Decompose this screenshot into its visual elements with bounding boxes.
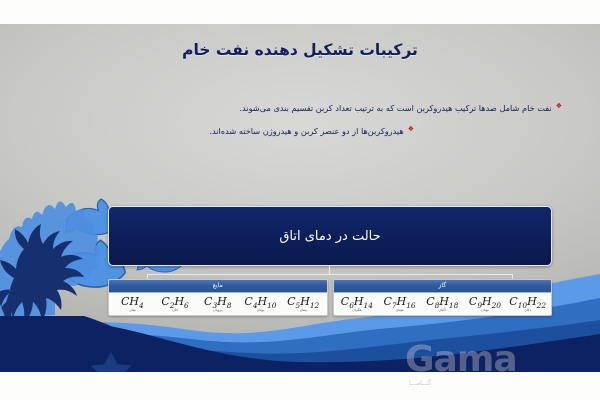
hydrogen-count: 6 [184,302,189,311]
molecule-name: پروپان [213,308,222,312]
molecule-name: بوتان [257,308,265,312]
molecule-list-liquid: C5H12 پنتان C4H10 بوتان C3H8 پروپان C2H6… [109,293,327,315]
main-state-label: حالت در دمای اتاق [279,229,380,244]
hydrogen-count: 10 [267,302,276,311]
hydrogen-count: 4 [139,302,144,311]
molecule-item: C7H16 هپتان [378,296,421,312]
category-header-liquid: مایع [109,280,327,293]
molecule-name: اکتان [438,308,446,312]
list-item: ❖ نفت خام شامل صدها ترکیب هیدروکربن است … [22,102,562,114]
molecule-item: CH4 متان [111,296,154,312]
hydrogen-count: 22 [537,302,546,311]
ocean-decoration [0,24,600,372]
molecule-item: C10H22 دکان [506,296,549,312]
hydrogen-count: 20 [492,302,501,311]
slide-viewer: ترکیبات تشکیل دهنده نفت خام ❖ نفت خام شا… [0,0,600,400]
page-title: ترکیبات تشکیل دهنده نفت خام [0,41,600,59]
molecule-name: متان [129,308,136,312]
molecule-name: نونان [481,308,489,312]
molecule-item: C6H14 هگزان [335,296,378,312]
molecule-list-gas: C10H22 دکان C9H20 نونان C8H18 اکتان C7H1… [334,293,552,315]
watermark-subtext: گـــامـــا [409,379,431,387]
main-state-box: حالت در دمای اتاق [108,206,552,266]
bullet-text: نفت خام شامل صدها ترکیب هیدروکربن است که… [239,102,551,114]
molecule-item: C8H18 اکتان [421,296,464,312]
hydrogen-count: 16 [406,302,415,311]
molecule-name: پنتان [300,308,307,312]
presentation-slide: ترکیبات تشکیل دهنده نفت خام ❖ نفت خام شا… [0,24,600,372]
list-item: ❖ هیدروکربن‌ها از دو عنصر کربن و هیدروژن… [22,125,562,137]
molecule-name: هپتان [396,308,404,312]
molecule-name: دکان [524,308,531,312]
molecule-item: C3H8 پروپان [196,296,239,312]
hydrogen-count: 8 [227,302,232,311]
category-box-liquid: مایع C5H12 پنتان C4H10 بوتان C3H8 پروپان [108,279,328,316]
connector-horizontal [147,274,513,275]
hydrogen-count: 12 [310,302,319,311]
molecule-name: هگزان [352,308,362,312]
category-box-gas: گاز C10H22 دکان C9H20 نونان C8H18 اکتان [333,279,553,316]
category-header-gas: گاز [334,280,552,293]
molecule-name: اتان [172,308,178,312]
molecule-item: C4H10 بوتان [239,296,282,312]
hydrogen-count: 18 [449,302,458,311]
molecule-item: C9H20 نونان [464,296,507,312]
category-row: گاز C10H22 دکان C9H20 نونان C8H18 اکتان [108,279,552,316]
bullet-list: ❖ نفت خام شامل صدها ترکیب هیدروکربن است … [22,102,562,149]
molecule-item: C2H6 اتان [154,296,197,312]
bullet-text: هیدروکربن‌ها از دو عنصر کربن و هیدروژن س… [209,125,403,137]
bullet-marker-icon: ❖ [408,126,414,133]
bullet-marker-icon: ❖ [556,103,562,110]
hydrogen-count: 14 [364,302,373,311]
molecule-item: C5H12 پنتان [282,296,325,312]
